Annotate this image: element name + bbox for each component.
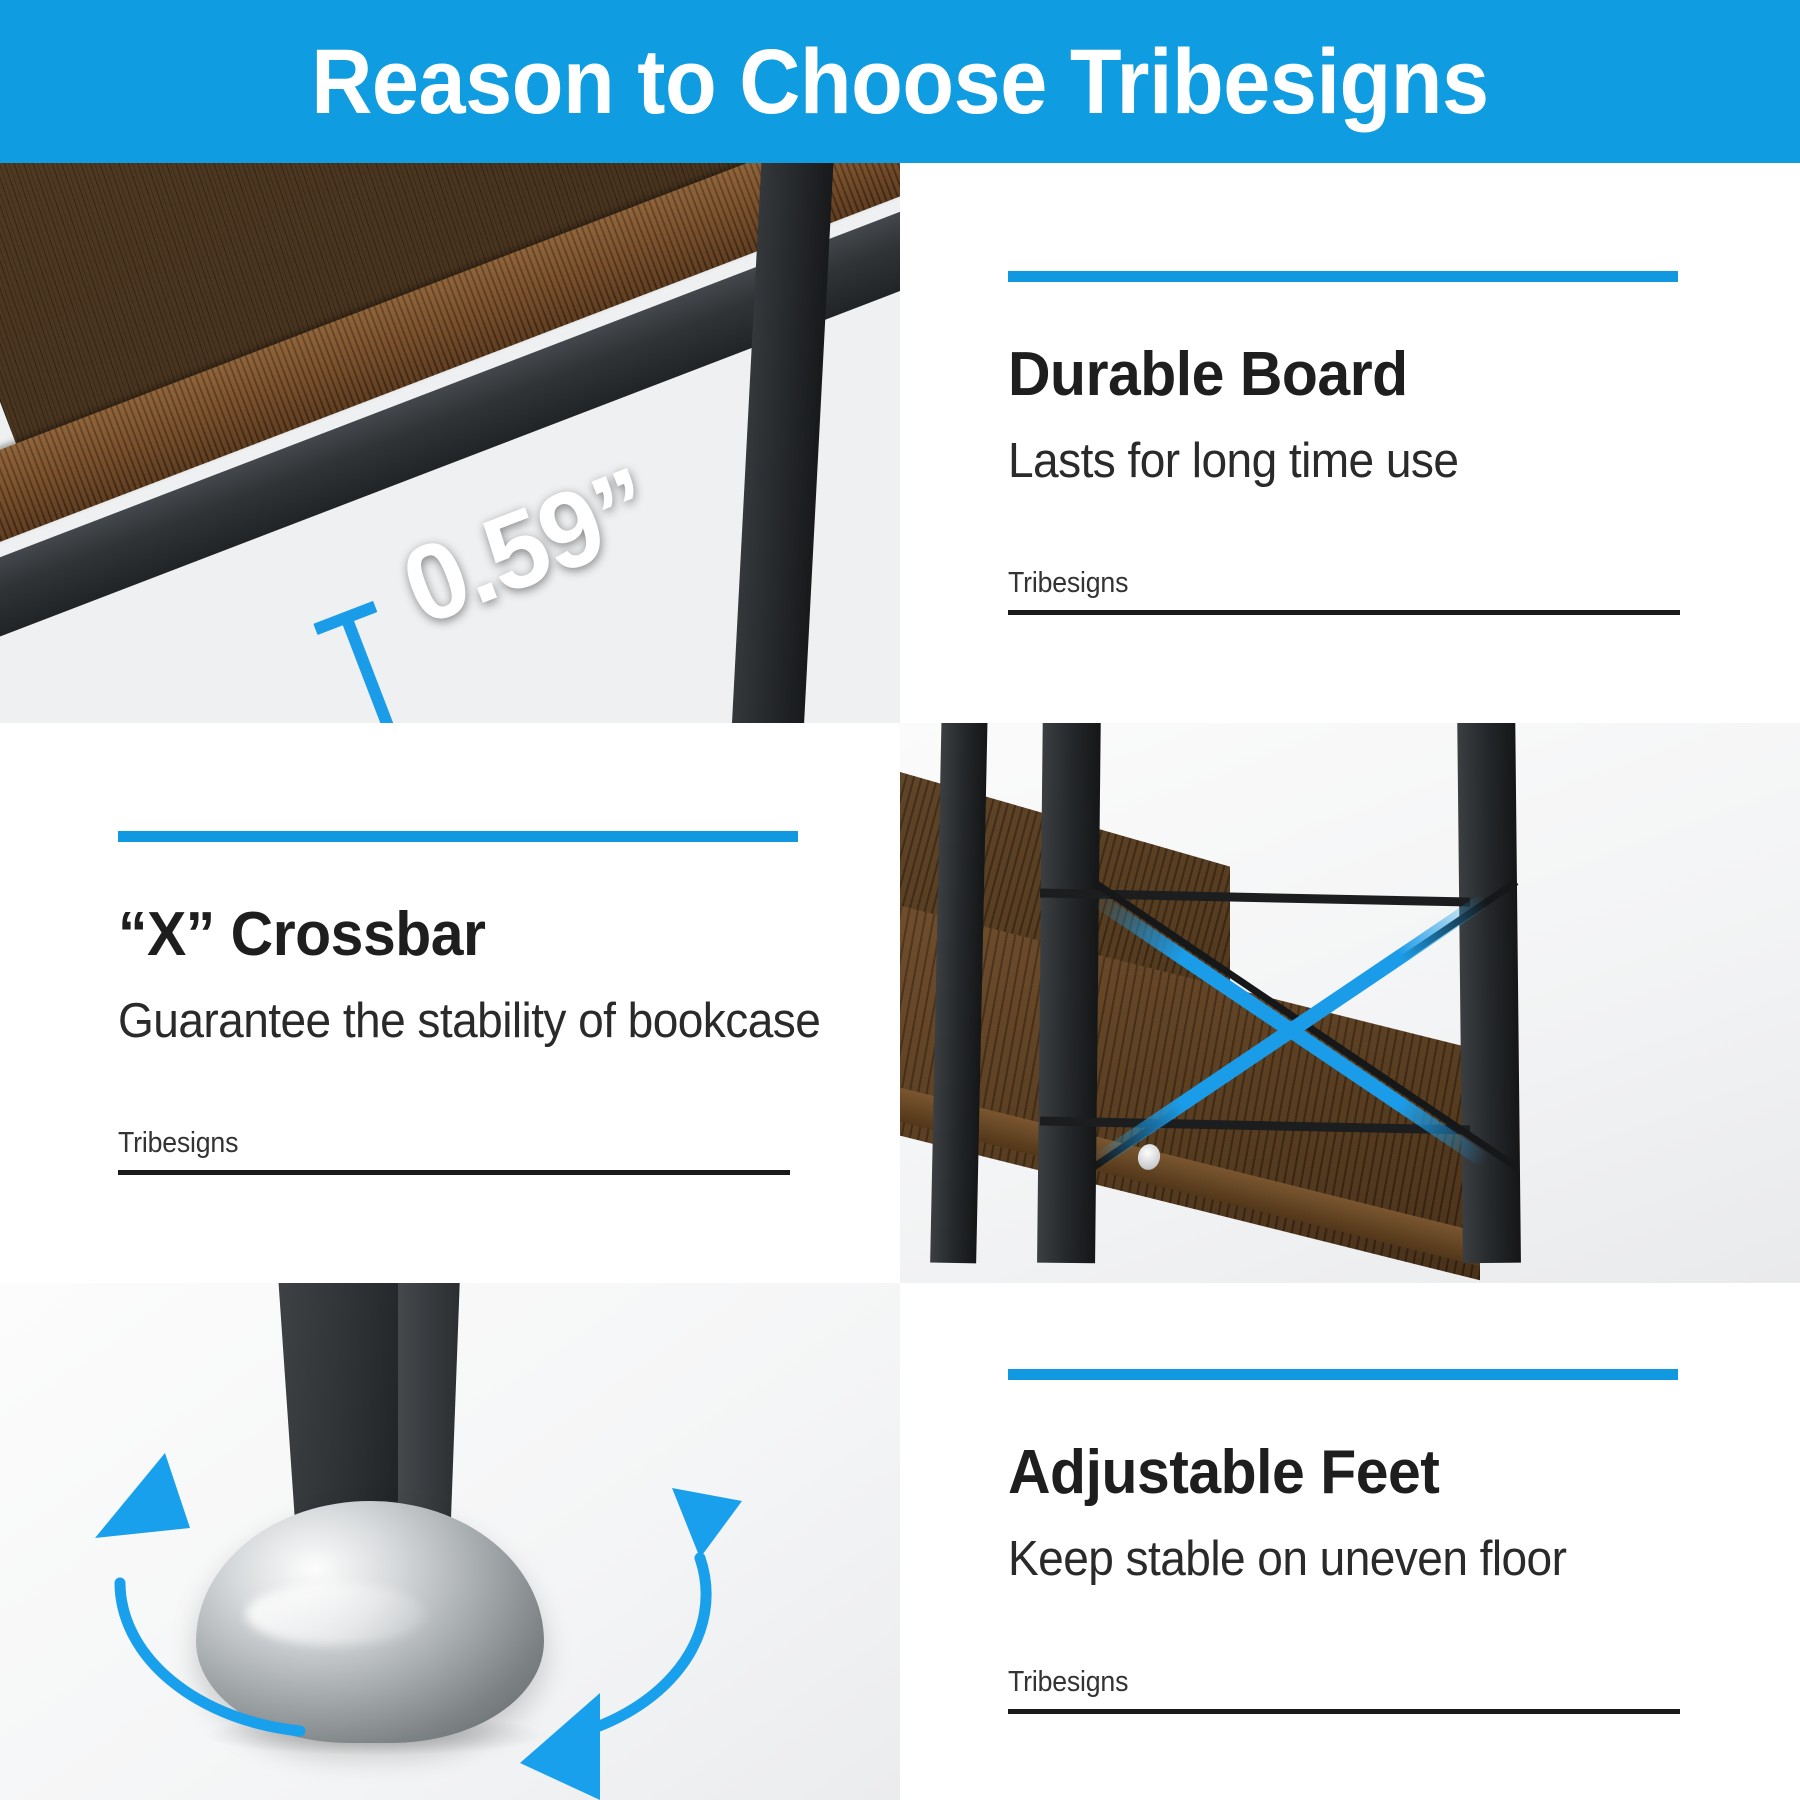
durable-board-panel: Durable Board Lasts for long time use Tr… [900, 163, 1800, 723]
brand-footer: Tribesigns [1008, 567, 1680, 615]
feature-subtitle: Keep stable on uneven floor [1008, 1531, 1704, 1587]
feature-subtitle: Lasts for long time use [1008, 433, 1704, 489]
x-crossbar-photo-cell [900, 723, 1800, 1283]
wood-board-closeup: 0.59” [0, 163, 900, 723]
rotation-arrowhead-lower [520, 1693, 600, 1800]
brand-name: Tribesigns [1008, 1666, 1626, 1699]
durable-board-photo-cell: 0.59” [0, 163, 900, 723]
page-title: Reason to Choose Tribesigns [311, 36, 1488, 128]
accent-bar [118, 831, 798, 842]
durable-board-text-cell: Durable Board Lasts for long time use Tr… [900, 163, 1800, 723]
brand-rule [118, 1170, 790, 1175]
rotation-arrows-icon [0, 1283, 900, 1800]
x-crossbar-panel: “X” Crossbar Guarantee the stability of … [0, 723, 900, 1283]
feature-heading: Durable Board [1008, 342, 1711, 407]
adjustable-feet-photo-cell [0, 1283, 900, 1800]
brand-footer: Tribesigns [118, 1127, 790, 1175]
x-crossbar-closeup [900, 723, 1800, 1283]
feature-row-durable-board: 0.59” Durable Board Lasts for long time … [0, 163, 1800, 723]
rotation-arc-left [120, 1583, 300, 1731]
brand-name: Tribesigns [118, 1127, 736, 1160]
brand-name: Tribesigns [1008, 567, 1626, 600]
adjustable-feet-panel: Adjustable Feet Keep stable on uneven fl… [900, 1283, 1800, 1800]
dimension-marker-icon [313, 600, 428, 723]
adjustable-foot-closeup [0, 1283, 900, 1800]
brand-rule [1008, 610, 1680, 615]
infographic-page: Reason to Choose Tribesigns 0.59” Dura [0, 0, 1800, 1800]
brand-rule [1008, 1709, 1680, 1714]
feature-subtitle: Guarantee the stability of bookcase [118, 993, 618, 1049]
feature-row-x-crossbar: “X” Crossbar Guarantee the stability of … [0, 723, 1800, 1283]
x-crossbar-text-cell: “X” Crossbar Guarantee the stability of … [0, 723, 900, 1283]
x-cross-highlight-icon [1050, 873, 1470, 1173]
feature-heading: “X” Crossbar [118, 902, 623, 967]
feature-heading: Adjustable Feet [1008, 1440, 1711, 1505]
accent-bar [1008, 1369, 1678, 1380]
feature-row-adjustable-feet: Adjustable Feet Keep stable on uneven fl… [0, 1283, 1800, 1800]
accent-bar [1008, 271, 1678, 282]
brand-footer: Tribesigns [1008, 1666, 1680, 1714]
rotation-arrowhead-upper [95, 1453, 190, 1538]
header-banner: Reason to Choose Tribesigns [0, 0, 1800, 163]
thickness-callout-label: 0.59” [386, 442, 668, 650]
dimension-stem [341, 615, 402, 723]
adjustable-feet-text-cell: Adjustable Feet Keep stable on uneven fl… [900, 1283, 1800, 1800]
rotation-arc-right-tail [672, 1488, 742, 1558]
